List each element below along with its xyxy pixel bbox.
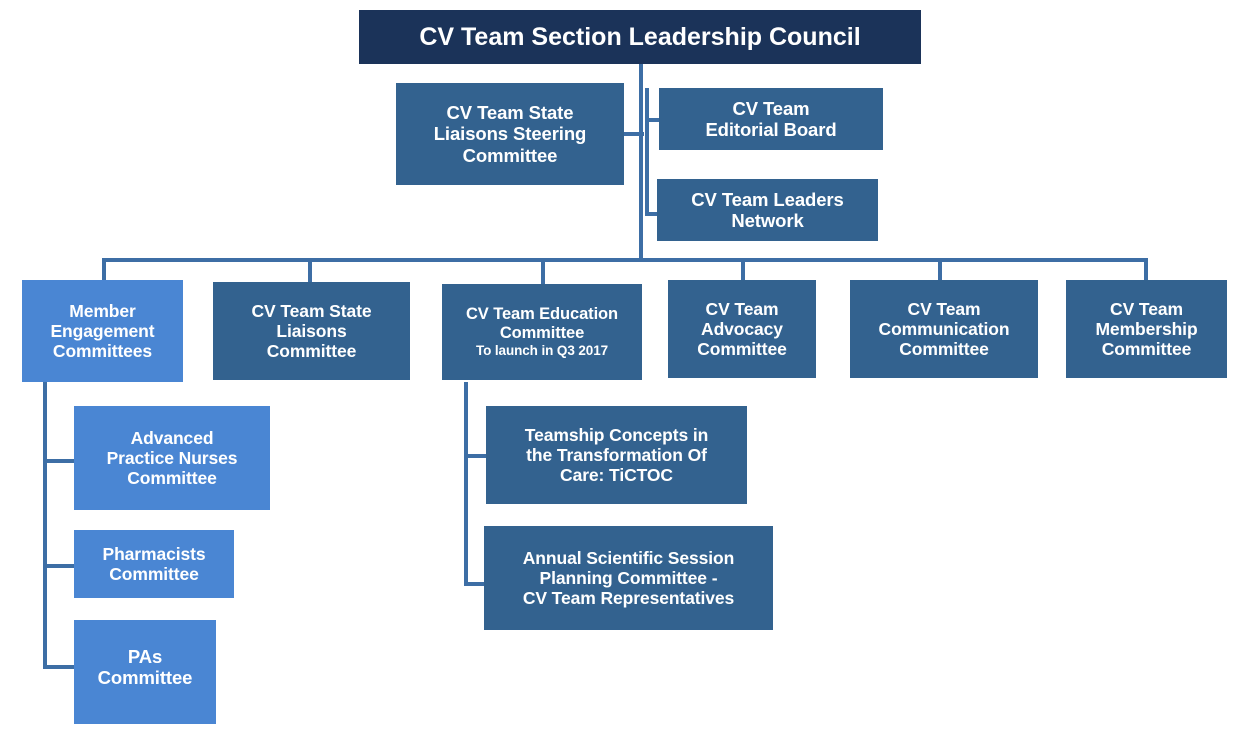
node-cv-team-section-leadership-council[interactable]: CV Team Section Leadership Council xyxy=(359,10,921,64)
connector-education-stem xyxy=(464,382,468,586)
node-cv-team-advocacy-committee[interactable]: CV Team Advocacy Committee xyxy=(668,280,816,378)
node-sublabel: To launch in Q3 2017 xyxy=(476,343,608,359)
connector-drop-member-engagement xyxy=(102,258,106,280)
connector-to-pharmacists xyxy=(43,564,75,568)
node-member-engagement-committees[interactable]: Member Engagement Committees xyxy=(22,280,183,382)
node-cv-team-state-liaisons-steering-committee[interactable]: CV Team State Liaisons Steering Committe… xyxy=(396,83,624,185)
node-label: CV Team Section Leadership Council xyxy=(419,23,860,52)
connector-root-trunk xyxy=(639,62,643,260)
connector-drop-state-liaisons xyxy=(308,258,312,282)
connector-drop-advocacy xyxy=(741,258,745,280)
connector-level3-bus xyxy=(102,258,1148,262)
node-cv-team-editorial-board[interactable]: CV Team Editorial Board xyxy=(659,88,883,150)
node-cv-team-state-liaisons-committee[interactable]: CV Team State Liaisons Committee xyxy=(213,282,410,380)
connector-right-spine xyxy=(645,88,649,216)
node-label: CV Team State Liaisons Steering Committe… xyxy=(434,102,587,166)
node-label: Annual Scientific Session Planning Commi… xyxy=(523,548,734,609)
node-label: PAs Committee xyxy=(98,646,193,689)
node-annual-scientific-session-planning-committee[interactable]: Annual Scientific Session Planning Commi… xyxy=(484,526,773,630)
node-cv-team-education-committee[interactable]: CV Team Education Committee To launch in… xyxy=(442,284,642,380)
node-label: Member Engagement Committees xyxy=(50,301,154,362)
node-advanced-practice-nurses-committee[interactable]: Advanced Practice Nurses Committee xyxy=(74,406,270,510)
node-label: CV Team Editorial Board xyxy=(705,98,836,141)
connector-drop-membership xyxy=(1144,258,1148,280)
node-label: Advanced Practice Nurses Committee xyxy=(107,428,238,489)
node-cv-team-membership-committee[interactable]: CV Team Membership Committee xyxy=(1066,280,1227,378)
node-label: CV Team Membership Committee xyxy=(1095,299,1197,360)
connector-member-engagement-stem xyxy=(43,382,47,669)
connector-to-tictoc xyxy=(464,454,488,458)
connector-drop-communication xyxy=(938,258,942,280)
node-pharmacists-committee[interactable]: Pharmacists Committee xyxy=(74,530,234,598)
node-label: CV Team Communication Committee xyxy=(879,299,1010,360)
org-chart-canvas: CV Team Section Leadership Council CV Te… xyxy=(0,0,1247,732)
node-pas-committee[interactable]: PAs Committee xyxy=(74,620,216,724)
node-label: CV Team Advocacy Committee xyxy=(697,299,787,360)
node-label: Pharmacists Committee xyxy=(103,544,206,585)
node-label: Teamship Concepts in the Transformation … xyxy=(525,425,708,486)
node-label: CV Team State Liaisons Committee xyxy=(252,301,372,362)
connector-drop-education xyxy=(541,258,545,284)
node-cv-team-communication-committee[interactable]: CV Team Communication Committee xyxy=(850,280,1038,378)
node-teamship-concepts-tictoc[interactable]: Teamship Concepts in the Transformation … xyxy=(486,406,747,504)
node-label: CV Team Education Committee xyxy=(466,305,618,343)
node-label: CV Team Leaders Network xyxy=(691,189,843,232)
connector-to-pas xyxy=(43,665,75,669)
connector-to-advanced-practice-nurses xyxy=(43,459,75,463)
node-cv-team-leaders-network[interactable]: CV Team Leaders Network xyxy=(657,179,878,241)
